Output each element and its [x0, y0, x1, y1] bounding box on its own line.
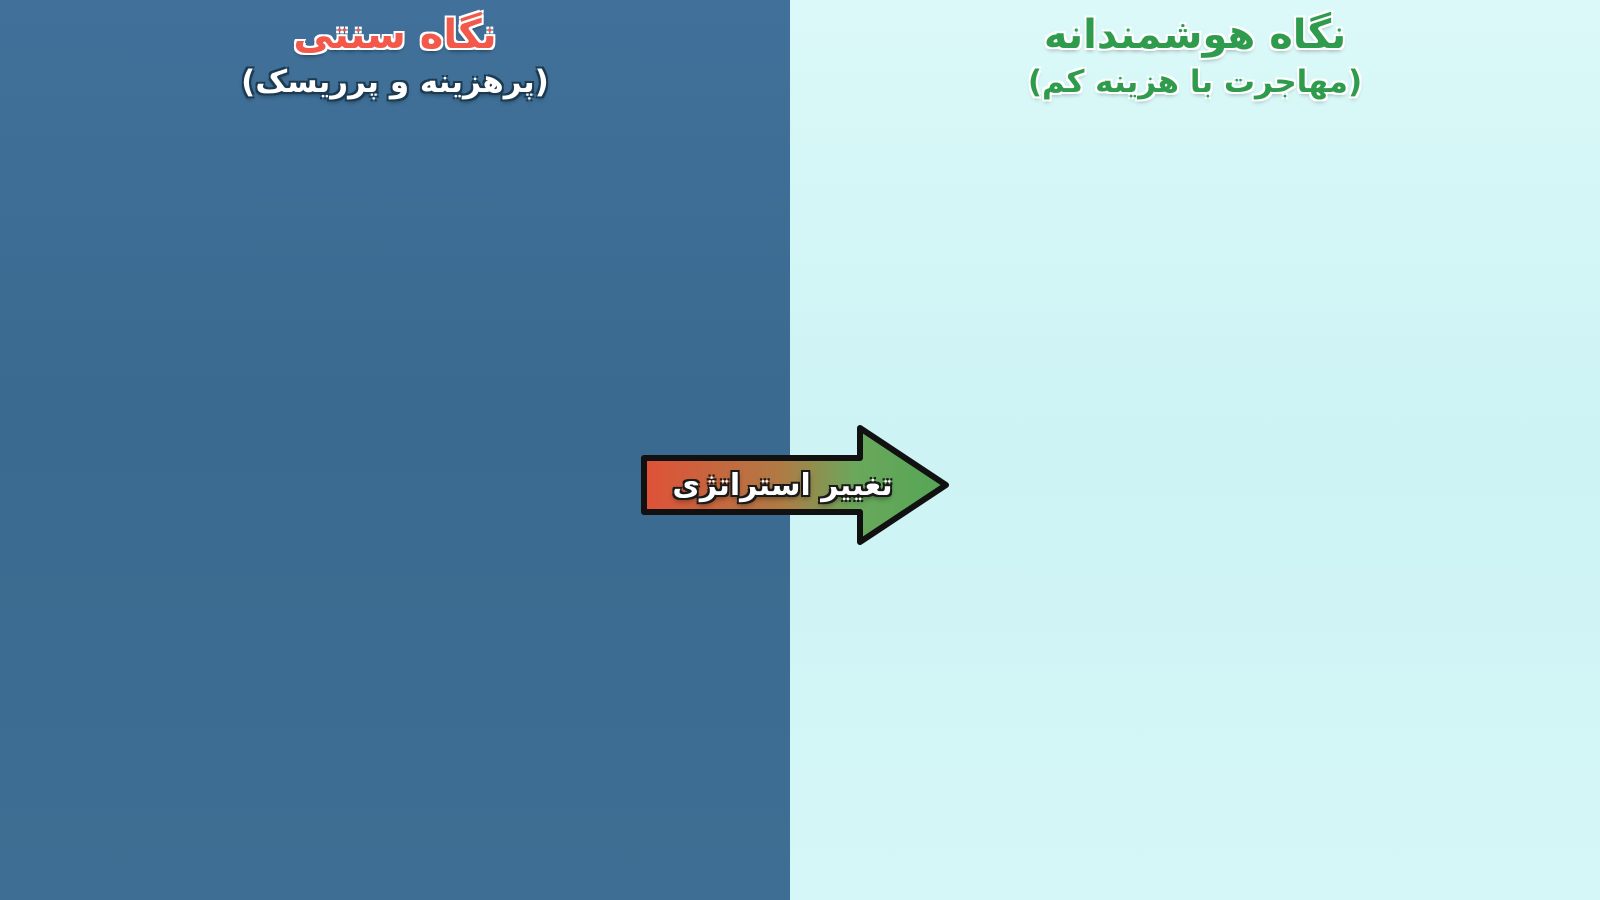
left-panel-title: نگاه سنتی — [0, 14, 790, 56]
left-title-block: نگاه سنتی (پرهزینه و پرریسک) — [0, 14, 790, 101]
strategy-change-arrow: تغییر استراتژی — [640, 424, 950, 546]
infographic-stage: نگاه سنتی (پرهزینه و پرریسک) مقصد: کشوره… — [0, 0, 1600, 900]
right-title-block: نگاه هوشمندانه (مهاجرت با هزینه کم) — [790, 14, 1600, 101]
left-panel-subtitle: (پرهزینه و پرریسک) — [0, 64, 790, 101]
right-panel-title: نگاه هوشمندانه — [790, 14, 1600, 56]
right-panel-subtitle: (مهاجرت با هزینه کم) — [790, 64, 1600, 101]
right-arrow-icon — [640, 424, 950, 546]
